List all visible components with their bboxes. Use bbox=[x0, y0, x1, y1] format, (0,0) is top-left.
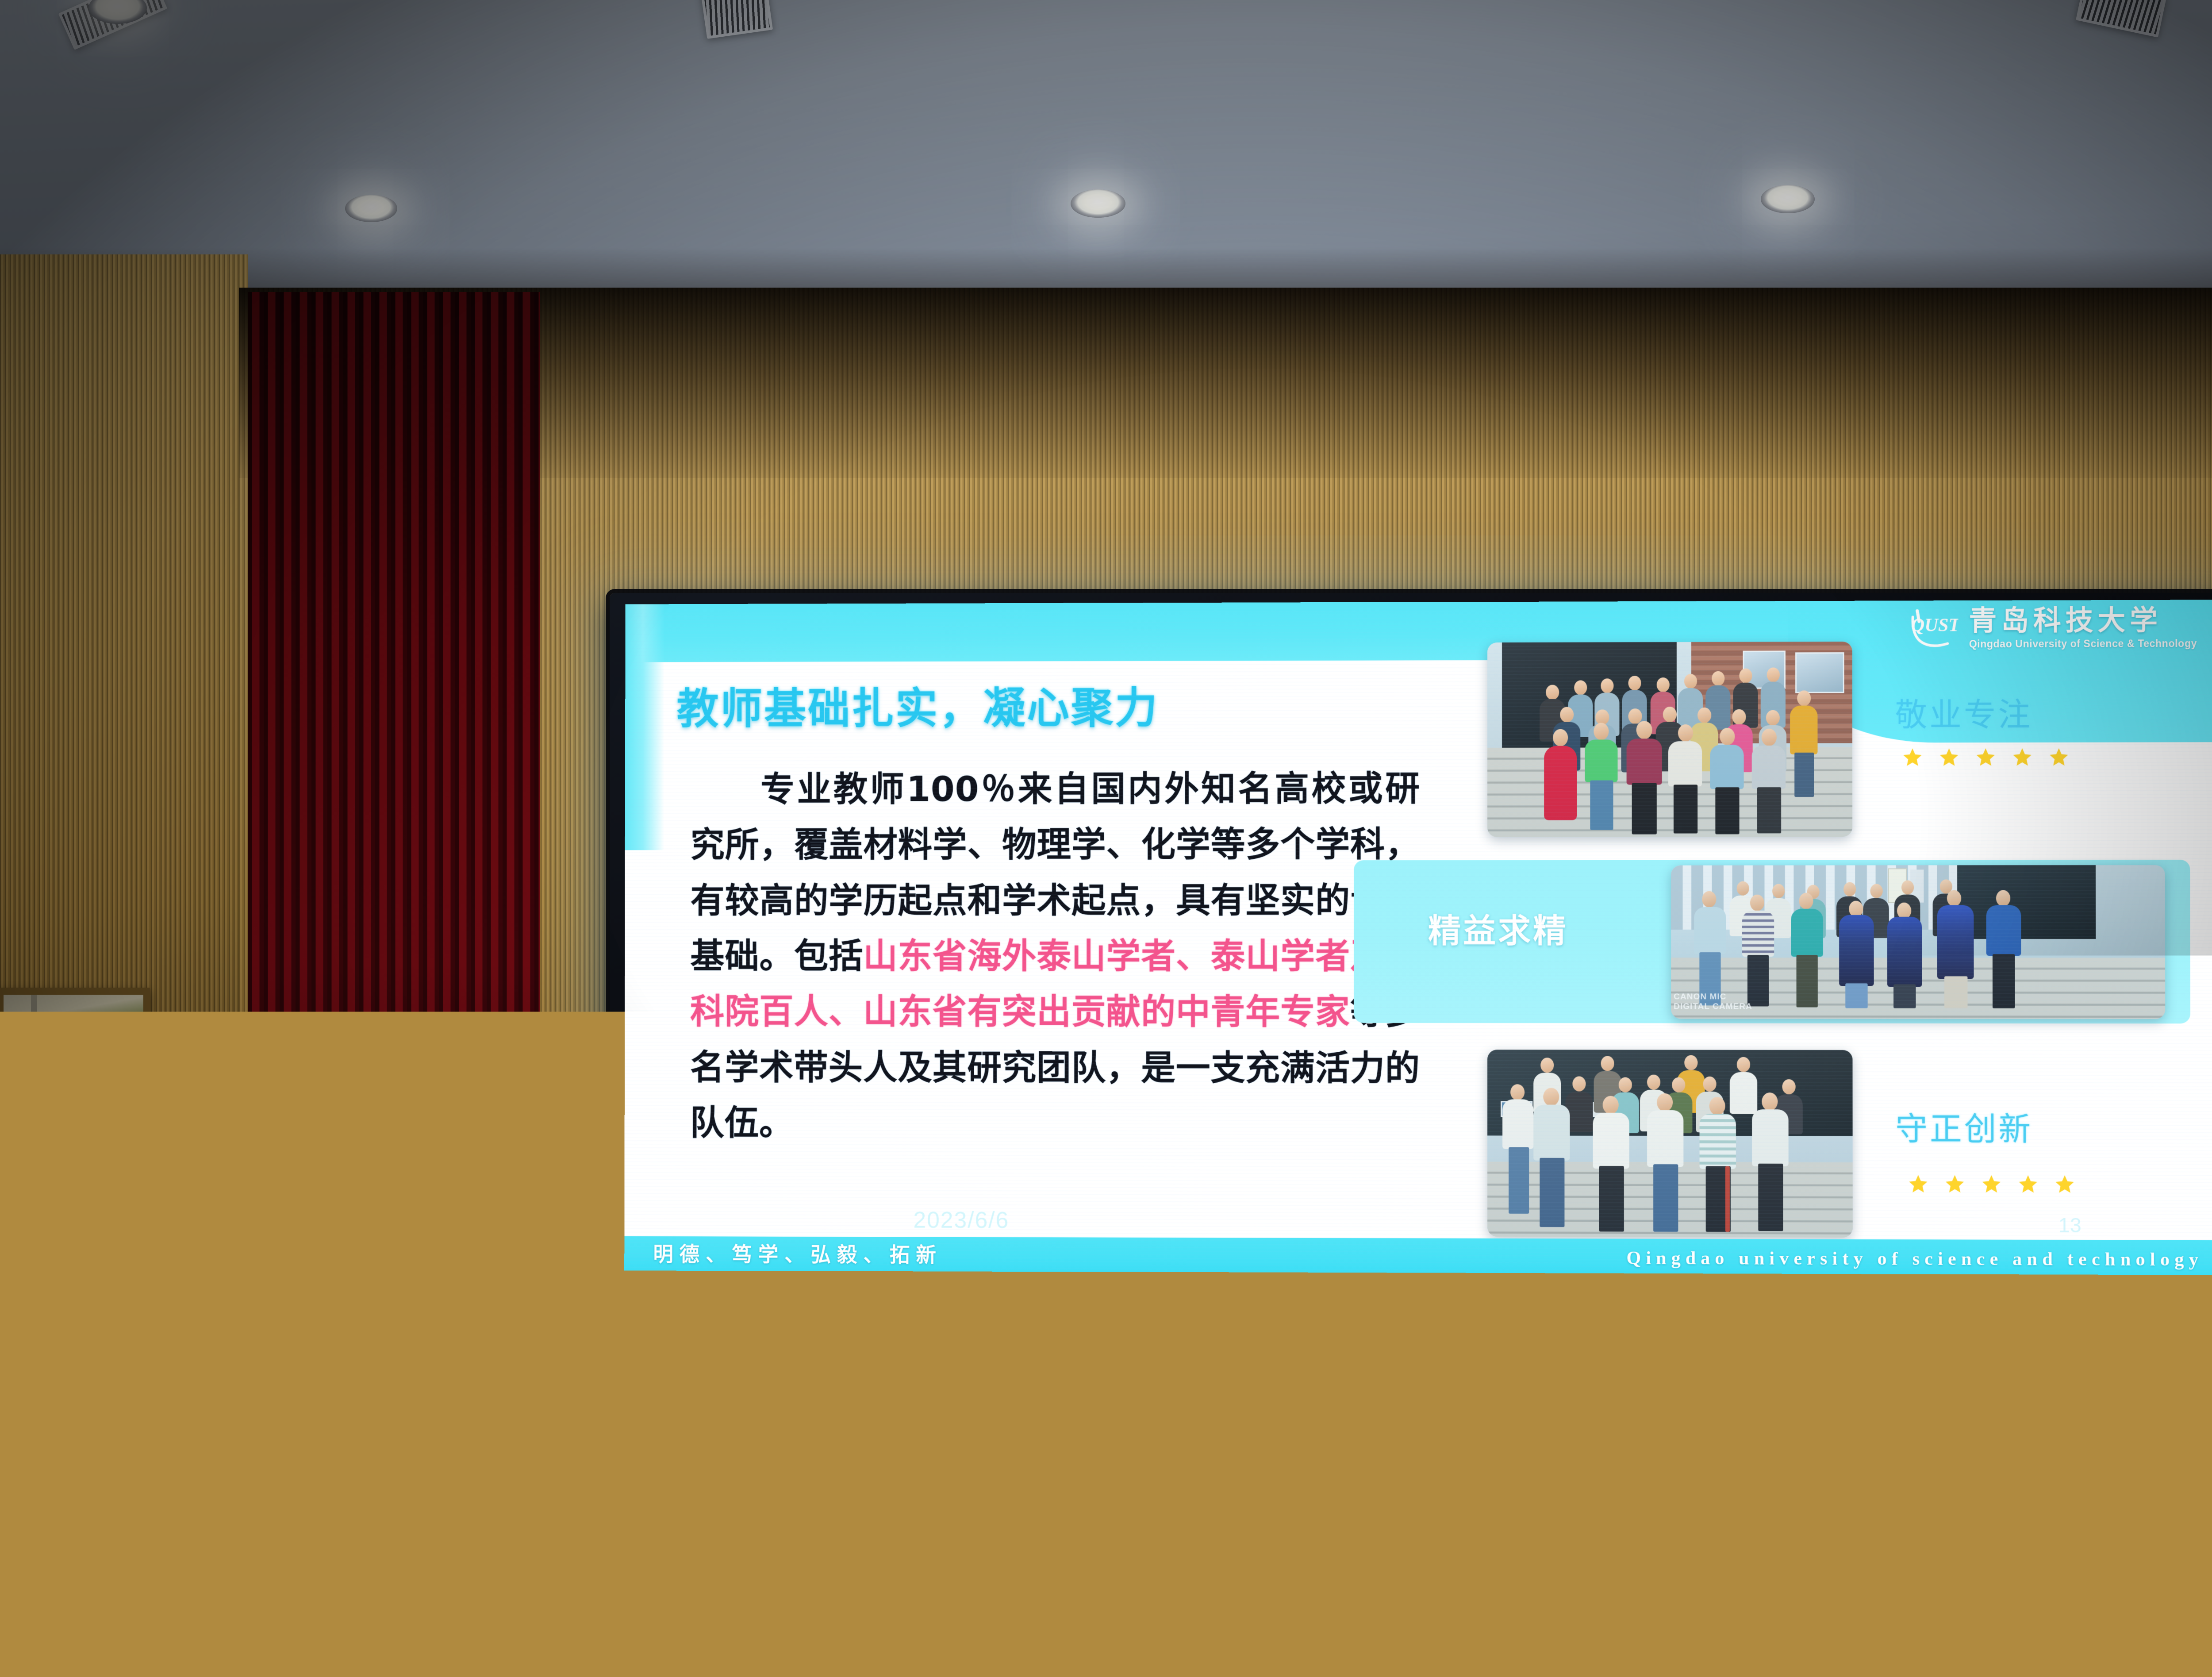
star-rating-top bbox=[1902, 747, 2069, 768]
star-icon bbox=[1975, 747, 1996, 767]
floor-reflection bbox=[487, 1562, 593, 1589]
photo-faculty-group[interactable] bbox=[1487, 642, 1852, 837]
footer-motto-en: Qingdao university of science and techno… bbox=[1626, 1248, 2203, 1271]
star-rating-bottom bbox=[1908, 1173, 2075, 1194]
label-innovation: 守正创新 bbox=[1895, 1103, 2033, 1150]
led-screen-bezel[interactable]: QUST 青岛科技大学 Qingdao University of Scienc… bbox=[610, 593, 2212, 1282]
ceiling-downlight bbox=[1761, 185, 1815, 213]
wall-outlet[interactable] bbox=[1448, 1335, 1465, 1367]
star-icon bbox=[1981, 1174, 2001, 1194]
star-icon bbox=[1939, 747, 1959, 767]
university-name-en: Qingdao University of Science & Technolo… bbox=[1969, 638, 2197, 649]
wall-outlet[interactable] bbox=[1428, 1335, 1446, 1367]
slide-title: 教师基础扎实，凝心聚力 bbox=[677, 673, 1159, 735]
window-mullion bbox=[31, 995, 37, 1060]
podium-desktop bbox=[140, 1235, 458, 1275]
podium-front-lip bbox=[142, 1273, 456, 1289]
star-icon bbox=[2012, 747, 2032, 767]
wall-outlet[interactable] bbox=[2074, 1332, 2092, 1364]
youth-league-emblem: 中国共青团 bbox=[195, 1309, 318, 1423]
ceiling-downlight bbox=[345, 195, 397, 222]
wall-outlet[interactable] bbox=[725, 1337, 742, 1369]
floor-reflection bbox=[1398, 1581, 1500, 1606]
photo-research-team[interactable] bbox=[1487, 1050, 1853, 1238]
footer-motto-cn: 明德、笃学、弘毅、拓新 bbox=[653, 1238, 942, 1268]
slide-date: 2023/6/6 bbox=[913, 1207, 1009, 1234]
label-dedication: 敬业专注 bbox=[1895, 688, 2033, 735]
star-icon bbox=[2055, 1174, 2075, 1194]
speaking-podium: 中国共青团 bbox=[140, 1235, 458, 1677]
star-icon bbox=[2049, 747, 2070, 767]
university-name-cn: 青岛科技大学 bbox=[1969, 607, 2197, 635]
lecture-hall-scene: QUST 青岛科技大学 Qingdao University of Scienc… bbox=[0, 0, 2212, 1677]
star-icon bbox=[1944, 1174, 1965, 1194]
star-icon bbox=[1902, 747, 1923, 767]
led-screen-surface[interactable]: QUST 青岛科技大学 Qingdao University of Scienc… bbox=[624, 600, 2212, 1275]
ceiling-downlight bbox=[1071, 189, 1125, 218]
slide-page-number: 13 bbox=[2058, 1213, 2081, 1237]
floor-reflection bbox=[1827, 1587, 1924, 1611]
slide-left-edge-accent bbox=[625, 604, 665, 850]
label-excellence: 精益求精 bbox=[1428, 904, 1568, 952]
emblem-banner-text: 中国共青团 bbox=[208, 1384, 288, 1401]
university-logo-text: 青岛科技大学 Qingdao University of Science & T… bbox=[1969, 607, 2197, 650]
side-monitor bbox=[0, 1181, 66, 1327]
star-icon bbox=[1908, 1173, 1928, 1194]
star-icon bbox=[2018, 1174, 2039, 1194]
qust-monogram-icon: QUST bbox=[1910, 608, 1959, 649]
floor-reflection bbox=[734, 1579, 832, 1603]
wall-outlet[interactable] bbox=[1468, 1335, 1486, 1367]
eyeglasses-icon bbox=[151, 1089, 238, 1113]
slide-body-text: 专业教师100％来自国内外知名高校或研究所，覆盖材料学、物理学、化学等多个学科，… bbox=[690, 761, 1420, 1153]
presentation-slide: QUST 青岛科技大学 Qingdao University of Scienc… bbox=[624, 600, 2212, 1275]
photo-graduation-group[interactable]: CANON MICDIGITAL CAMERA bbox=[1671, 865, 2165, 1019]
microphone-indicator-light bbox=[387, 1086, 399, 1098]
university-logo: QUST 青岛科技大学 Qingdao University of Scienc… bbox=[1910, 607, 2197, 650]
eyeglass-lens bbox=[151, 1089, 187, 1112]
eyeglass-bridge bbox=[187, 1098, 203, 1100]
eyeglass-lens bbox=[203, 1089, 238, 1112]
